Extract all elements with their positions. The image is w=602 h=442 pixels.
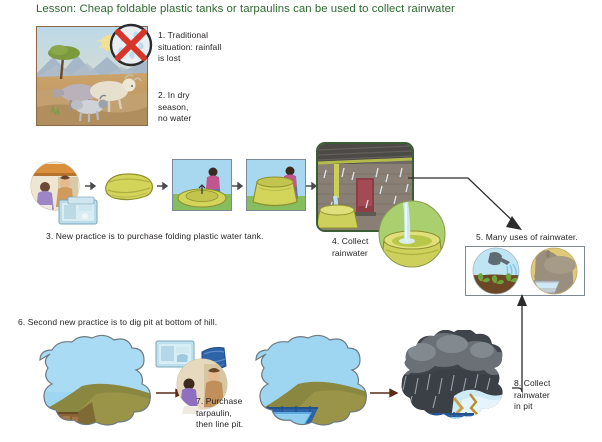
lesson-poster: Lesson: Cheap foldable plastic tanks or …	[0, 0, 602, 442]
step-6-caption: 6. Second new practice is to dig pit at …	[18, 317, 298, 329]
step-3-erected-tank-panel	[246, 159, 306, 211]
step-4-caption: 4. Collect rainwater	[332, 236, 402, 259]
arrow-3c-icon	[232, 182, 244, 190]
step-6-illustration	[22, 334, 162, 438]
step-5-illustration	[465, 246, 585, 296]
step-3-caption: 3. New practice is to purchase folding p…	[46, 231, 276, 243]
money-notes-icon	[58, 196, 100, 226]
arrow-3a-icon	[85, 182, 97, 190]
step-3-unfolding-tank-panel	[172, 159, 232, 211]
step-8-caption: 8. Collect rainwater in pit	[514, 378, 594, 413]
step-2-caption: 2. In dry season, no water	[158, 90, 238, 125]
folded-tank-illustration	[100, 168, 156, 202]
no-rain-icon	[108, 22, 154, 68]
page-title: Lesson: Cheap foldable plastic tanks or …	[36, 3, 455, 15]
arrow-3b-icon	[157, 182, 169, 190]
step-1-caption: 1. Traditional situation: rainfall is lo…	[158, 30, 238, 65]
step-7-lined-pit-illustration	[238, 334, 378, 438]
step-5-caption: 5. Many uses of rainwater.	[476, 232, 596, 244]
step-8-illustration	[392, 330, 512, 438]
